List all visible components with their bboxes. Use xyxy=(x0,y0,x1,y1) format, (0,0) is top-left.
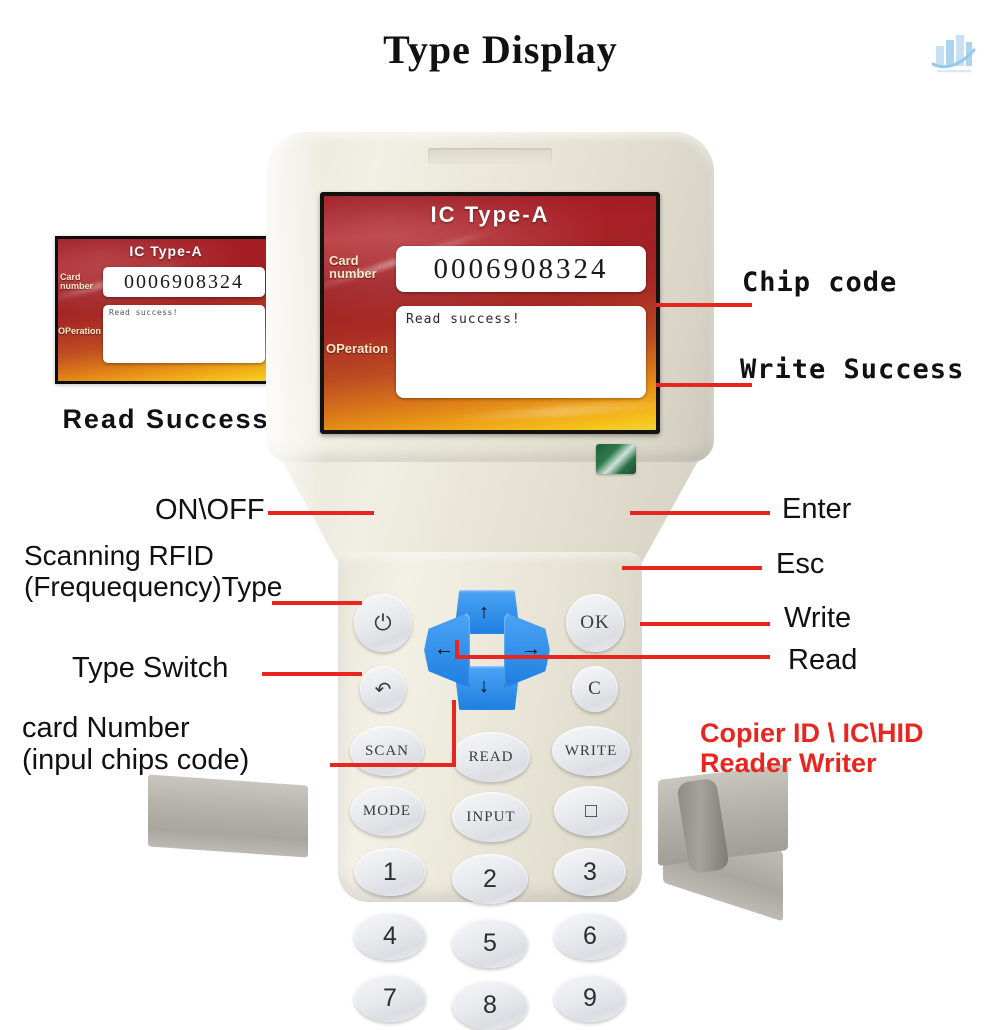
annotation-card-number: card Number (inpul chips code) xyxy=(22,712,249,777)
inset-caption: Read Success xyxy=(55,404,277,435)
write-button[interactable]: WRITE xyxy=(552,726,630,776)
clear-button[interactable]: C xyxy=(572,666,618,712)
page-title: Type Display xyxy=(0,26,1001,73)
key-1[interactable]: 1 xyxy=(354,848,426,896)
inset-lcd: IC Type-A Card number 0006908324 OPerati… xyxy=(58,239,274,381)
annotation-type-switch: Type Switch xyxy=(72,652,228,684)
leader-line-scan xyxy=(272,601,362,605)
lcd-screen: IC Type-A Card number 0006908324 OPerati… xyxy=(320,192,660,434)
arrow-up-icon: ↑ xyxy=(479,602,489,622)
annotation-write: Write xyxy=(784,602,851,634)
leader-line-write xyxy=(640,622,770,626)
ok-button[interactable]: OK xyxy=(566,594,624,652)
inset-lcd-title: IC Type-A xyxy=(58,243,274,259)
inset-card-number-value: 0006908324 xyxy=(103,267,265,297)
arrow-down-icon: ↓ xyxy=(479,676,489,696)
key-6[interactable]: 6 xyxy=(554,912,626,960)
input-button[interactable]: INPUT xyxy=(452,792,530,842)
annotation-read: Read xyxy=(788,644,857,676)
leader-line-input xyxy=(330,763,456,767)
card-number-label: Card number xyxy=(329,254,393,280)
arrow-left-icon: ← xyxy=(434,639,454,659)
key-2[interactable]: 2 xyxy=(452,854,528,904)
operation-value: Read success! xyxy=(406,312,521,327)
inset-operation-box: Read success! xyxy=(103,305,265,363)
green-label-sticker xyxy=(596,444,636,474)
leader-line-mode xyxy=(262,672,362,676)
key-7[interactable]: 7 xyxy=(354,974,426,1022)
inset-card-number-box: 0006908324 xyxy=(103,267,265,297)
card-number-value: 0006908324 xyxy=(396,246,646,292)
read-button[interactable]: READ xyxy=(452,732,530,782)
annotation-esc: Esc xyxy=(776,548,824,580)
inset-card-number-label: Card number xyxy=(60,273,104,291)
inset-read-success-screen: IC Type-A Card number 0006908324 OPerati… xyxy=(55,236,277,384)
wrist-strap-left xyxy=(148,774,308,857)
leader-line-read xyxy=(455,655,770,659)
key-8[interactable]: 8 xyxy=(452,980,528,1030)
operation-field[interactable]: Read success! xyxy=(396,306,646,398)
lcd-title: IC Type-A xyxy=(324,202,656,228)
key-9[interactable]: 9 xyxy=(554,974,626,1022)
dpad[interactable]: ↑ ↓ ← → xyxy=(424,590,550,710)
speaker-slot xyxy=(428,148,552,164)
card-number-field[interactable]: 0006908324 xyxy=(396,246,646,292)
inset-operation-value: Read success! xyxy=(109,308,178,317)
annotation-write-success: Write Success xyxy=(740,355,964,385)
leader-line-esc xyxy=(622,566,762,570)
key-5[interactable]: 5 xyxy=(452,918,528,968)
bar-chart-watermark-logo xyxy=(928,30,980,78)
power-button[interactable]: ⏻ xyxy=(354,594,412,652)
annotation-enter: Enter xyxy=(782,493,851,525)
leader-line-write-success xyxy=(656,383,752,387)
leader-line-onoff xyxy=(268,511,374,515)
leader-line-input-vertical xyxy=(452,700,456,766)
annotation-onoff: ON\OFF xyxy=(155,494,265,526)
annotation-product-name: Copier ID \ IC\HID Reader Writer xyxy=(700,718,924,778)
lcd-streak-3 xyxy=(444,398,656,425)
leader-line-chip-code xyxy=(656,303,752,307)
annotation-chip-code: Chip code xyxy=(742,268,897,298)
key-4[interactable]: 4 xyxy=(354,912,426,960)
back-button[interactable]: ↶ xyxy=(360,666,406,712)
lcd-surface: IC Type-A Card number 0006908324 OPerati… xyxy=(324,196,656,430)
key-3[interactable]: 3 xyxy=(554,848,626,896)
operation-label: OPeration xyxy=(326,342,398,355)
annotation-scanning-rfid: Scanning RFID (Frequequency)Type xyxy=(24,540,282,603)
square-button[interactable]: □ xyxy=(554,786,628,836)
mode-button[interactable]: MODE xyxy=(350,786,424,836)
leader-line-enter xyxy=(630,511,770,515)
scan-button[interactable]: SCAN xyxy=(350,726,424,776)
